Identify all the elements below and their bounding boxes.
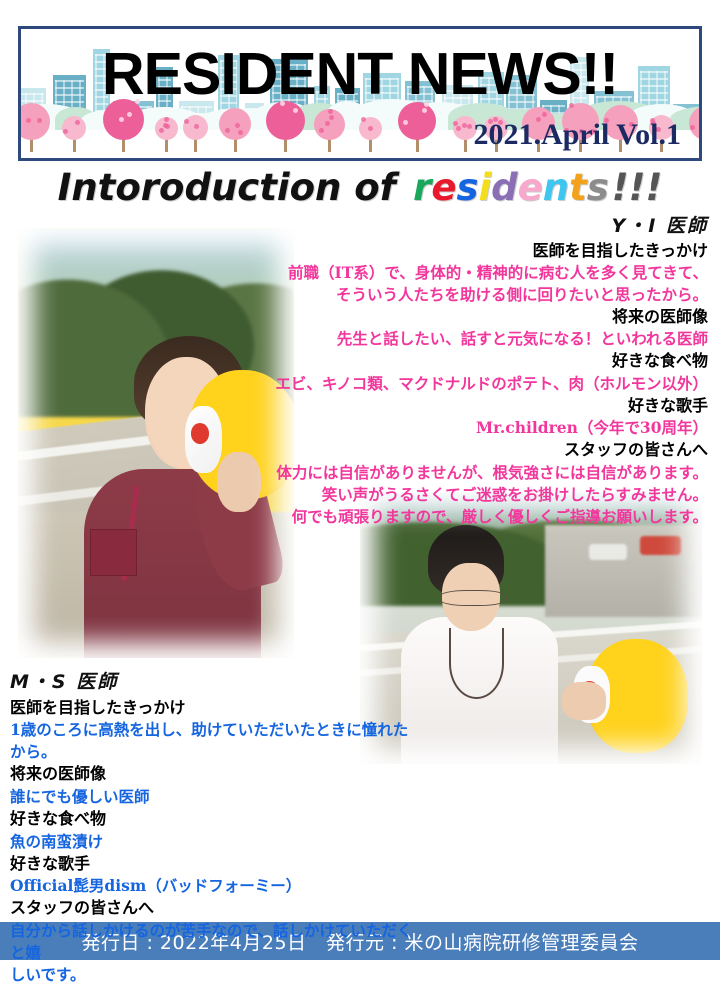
section-line: Mr.children（今年で30周年） xyxy=(268,417,708,439)
doctor-right-name: Y・I 医師 xyxy=(268,214,708,240)
section-line: 体力には自信がありませんが、根気強さには自信があります。 xyxy=(268,462,708,484)
subtitle-letter-8: s xyxy=(587,166,609,209)
blossom-dot xyxy=(238,130,243,135)
subtitle-letter-3: i xyxy=(478,166,491,209)
latin-run: dism xyxy=(104,876,146,895)
blossom-dot xyxy=(328,109,333,114)
blossom-dot xyxy=(159,128,164,133)
section-line: 誰にでも優しい医師 xyxy=(10,786,420,808)
blossom-dot xyxy=(319,128,324,133)
blossom-dot xyxy=(235,123,240,128)
cherry-tree-shape xyxy=(219,104,251,152)
doctor-id-badge xyxy=(90,529,137,576)
cherry-tree-shape xyxy=(18,99,50,152)
blossom-dot xyxy=(467,124,472,129)
section-heading: 好きな食べ物 xyxy=(10,808,420,831)
tree-crown xyxy=(398,102,436,140)
subtitle-letter-0: r xyxy=(413,166,431,209)
cherry-tree-shape xyxy=(183,111,208,152)
latin-run: 1 xyxy=(10,720,21,739)
doctor-left-name: M・S 医師 xyxy=(10,668,420,697)
section-line: エビ、キノコ類、マクドナルドのポテト、肉（ホルモン以外） xyxy=(268,373,708,395)
blossom-dot xyxy=(422,108,427,113)
tree-crown xyxy=(359,117,382,140)
cherry-tree-shape xyxy=(359,113,382,152)
tree-crown xyxy=(155,117,178,140)
blossom-dot xyxy=(75,120,80,125)
doctor-left-sections: 医師を目指したきっかけ1歳のころに高熱を出し、助けていただいたときに憧れたから。… xyxy=(10,697,420,986)
mascot-face xyxy=(185,406,223,473)
subtitle-letter-4: d xyxy=(491,166,518,209)
tree-crown xyxy=(314,109,345,140)
blossom-dot xyxy=(368,126,373,131)
blossom-dot xyxy=(26,118,31,123)
section-line: 前職（IT系）で、身体的・精神的に病む人を多く見てきて、 xyxy=(268,262,708,284)
section-heading: 医師を目指したきっかけ xyxy=(268,240,708,262)
newsletter-page: RESIDENT NEWS!! 2021.April Vol.1 Intorod… xyxy=(0,0,720,960)
blossom-dot xyxy=(63,129,68,134)
section-heading: 医師を目指したきっかけ xyxy=(10,697,420,720)
section-heading: スタッフの皆さんへ xyxy=(10,897,420,920)
blossom-dot xyxy=(325,121,330,126)
latin-run: 30 xyxy=(640,418,662,437)
section-heading: 将来の医師像 xyxy=(268,306,708,328)
cherry-tree-shape xyxy=(62,112,86,152)
doctor-glasses xyxy=(439,590,507,606)
section-line: 1歳のころに高熱を出し、助けていただいたときに憧れたから。 xyxy=(10,719,420,763)
blossom-dot xyxy=(361,117,366,122)
blossom-dot xyxy=(127,112,132,117)
section-heading: 好きな食べ物 xyxy=(268,350,708,372)
cherry-tree-shape xyxy=(689,102,702,152)
section-line: Official髭男dism（バッドフォーミー） xyxy=(10,875,420,897)
doctor-hand xyxy=(217,452,261,512)
page-title: RESIDENT NEWS!! xyxy=(21,45,699,104)
blossom-dot xyxy=(329,115,334,120)
issue-volume-label: 2021.April Vol.1 xyxy=(473,120,681,150)
section-heading: 好きな歌手 xyxy=(268,395,708,417)
subtitle-letter-5: e xyxy=(518,166,543,209)
doctor-hand xyxy=(562,682,606,720)
blossom-dot xyxy=(293,108,298,113)
section-line: 魚の南蛮漬け xyxy=(10,831,420,853)
blossom-dot xyxy=(184,119,189,124)
latin-run: IT xyxy=(335,263,354,282)
photo-female-content xyxy=(18,228,294,658)
blossom-dot xyxy=(37,118,42,123)
blossom-dot xyxy=(690,125,695,130)
cherry-tree-shape xyxy=(314,105,345,152)
subtitle-letter-1: e xyxy=(431,166,456,209)
subtitle-suffix: !!! xyxy=(612,166,663,209)
profile-doctor-right: Y・I 医師 医師を目指したきっかけ前職（IT系）で、身体的・精神的に病む人を多… xyxy=(268,214,708,528)
blossom-dot xyxy=(403,120,408,125)
photo-car xyxy=(589,544,627,560)
photo-car xyxy=(640,536,681,555)
tree-crown xyxy=(62,116,86,140)
tree-crown xyxy=(689,106,702,140)
section-line: そういう人たちを助ける側に回りたいと思ったから。 xyxy=(268,284,708,306)
section-line: 何でも頑張りますので、厳しく優しくご指導お願いします。 xyxy=(268,506,708,528)
blossom-dot xyxy=(462,123,467,128)
subtitle: Intoroduction of residents!!! xyxy=(0,168,720,209)
blossom-dot xyxy=(194,124,199,129)
section-heading: 将来の医師像 xyxy=(10,763,420,786)
blossom-dot xyxy=(163,123,168,128)
stethoscope xyxy=(449,628,504,699)
blossom-dot xyxy=(225,128,230,133)
tree-crown xyxy=(18,103,50,140)
section-line: 先生と話したい、話すと元気になる！といわれる医師 xyxy=(268,328,708,350)
photo-female-doctor xyxy=(18,228,294,658)
tree-crown xyxy=(219,108,251,140)
section-line: しいです。 xyxy=(10,964,420,986)
header-banner: RESIDENT NEWS!! 2021.April Vol.1 xyxy=(18,26,702,161)
latin-run: Mr.children xyxy=(476,418,578,437)
subtitle-letter-6: n xyxy=(543,166,569,209)
blossom-dot xyxy=(119,117,124,122)
section-line: 自分から話しかけるのが苦手なので、話しかけていただくと嬉 xyxy=(10,920,420,964)
blossom-dot xyxy=(542,112,547,117)
subtitle-letter-7: t xyxy=(569,166,587,209)
doctor-right-sections: 医師を目指したきっかけ前職（IT系）で、身体的・精神的に病む人を多く見てきて、そ… xyxy=(268,240,708,528)
blossom-dot xyxy=(456,126,461,131)
latin-run: Official xyxy=(10,876,73,895)
subtitle-rainbow-word: residents xyxy=(413,166,609,209)
tree-crown xyxy=(183,115,208,140)
section-heading: スタッフの皆さんへ xyxy=(268,439,708,461)
section-heading: 好きな歌手 xyxy=(10,853,420,876)
blossom-dot xyxy=(164,117,169,122)
subtitle-prefix: Intoroduction of xyxy=(58,166,409,209)
subtitle-letter-2: s xyxy=(456,166,478,209)
profile-doctor-left: M・S 医師 医師を目指したきっかけ1歳のころに高熱を出し、助けていただいたとき… xyxy=(10,668,420,986)
section-line: 笑い声がうるさくてご迷惑をお掛けしたらすみません。 xyxy=(268,484,708,506)
cherry-tree-shape xyxy=(155,113,178,152)
